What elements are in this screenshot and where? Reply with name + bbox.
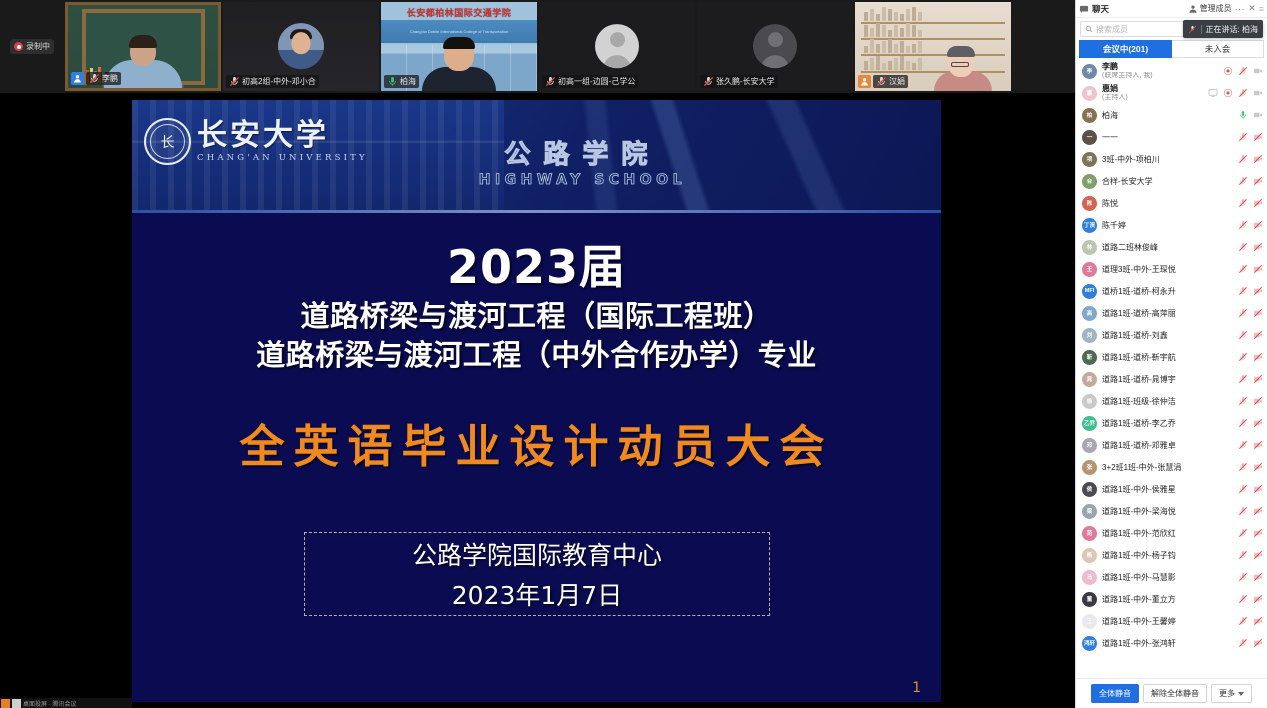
mic-muted-icon[interactable]	[1238, 550, 1248, 560]
camera-off-icon[interactable]	[1253, 154, 1263, 164]
more-button[interactable]: 更多	[1211, 684, 1252, 703]
participant-row[interactable]: 丁渓陈千婷	[1076, 214, 1267, 236]
participant-name-block: 道路1班-中外-梁海悦	[1102, 506, 1233, 517]
participant-name: 道路1班-道桥-邓雅卓	[1102, 440, 1233, 451]
participant-name: 道路1班-道桥-刘鑫	[1102, 330, 1233, 341]
participants-panel: 聊天 管理成员 ··· ✕ ≡ 正在讲话: 柏海	[1075, 0, 1267, 708]
participant-row[interactable]: 鸿轩道路1班-中外-张鸿轩	[1076, 632, 1267, 654]
participant-actions	[1238, 396, 1263, 406]
mic-muted-icon	[703, 76, 714, 87]
participant-name-block: 道路1班-道桥-刘鑫	[1102, 330, 1233, 341]
participant-name-block: 道路1班-中外-董立方	[1102, 594, 1233, 605]
mic-muted-icon[interactable]	[1238, 440, 1248, 450]
participant-name: 道路1班-道桥-高萍丽	[1102, 308, 1233, 319]
camera-off-icon[interactable]	[1253, 330, 1263, 340]
mic-muted-icon[interactable]	[1238, 66, 1248, 76]
participant-row[interactable]: MFI道桥1班-道桥-柯永升	[1076, 280, 1267, 302]
participant-actions	[1238, 506, 1263, 516]
participant-name: 道桥1班-道桥-柯永升	[1102, 286, 1233, 297]
more-label: 更多	[1219, 688, 1235, 699]
participant-name-block: 一一	[1102, 132, 1233, 143]
participant-avatar: 侯	[1082, 482, 1097, 497]
participant-name: 道路二班林俊峰	[1102, 242, 1233, 253]
participant-row[interactable]: 李李鹏(联席主持人, 我)	[1076, 60, 1267, 82]
mic-muted-icon	[545, 76, 556, 87]
manage-members-button[interactable]: 管理成员	[1188, 3, 1232, 14]
avatar-photo	[753, 24, 797, 68]
camera-off-icon[interactable]	[1253, 528, 1263, 538]
camera-off-icon[interactable]	[1253, 484, 1263, 494]
presentation-slide: 长 长安大学 CHANG'AN UNIVERSITY 公路学院 HIGHWAY …	[132, 100, 941, 702]
chat-icon[interactable]	[1079, 4, 1089, 14]
participant-name: 3班-中外-项柏川	[1102, 154, 1233, 165]
participant-avatar: 李	[1082, 64, 1097, 79]
participant-actions	[1238, 550, 1263, 560]
participant-row[interactable]: 陈陈悦	[1076, 192, 1267, 214]
mic-muted-icon[interactable]	[1238, 220, 1248, 230]
camera-off-icon[interactable]	[1253, 396, 1263, 406]
participant-row[interactable]: 合合样-长安大学	[1076, 170, 1267, 192]
participant-actions	[1223, 66, 1263, 76]
participant-actions	[1238, 462, 1263, 472]
camera-icon[interactable]	[1253, 66, 1263, 76]
panel-title: 聊天	[1092, 3, 1109, 15]
participant-avatar: 王	[1082, 614, 1097, 629]
participant-actions	[1238, 418, 1263, 428]
camera-off-icon[interactable]	[1253, 506, 1263, 516]
participant-name: 惠娟	[1102, 84, 1203, 93]
participant-row[interactable]: 林道路二班林俊峰	[1076, 236, 1267, 258]
mic-muted-icon[interactable]	[1238, 484, 1248, 494]
participant-name-block: 道路1班-道桥-李乙乔	[1102, 418, 1233, 429]
participant-avatar: 靳	[1082, 350, 1097, 365]
slide-page-number: 1	[912, 680, 921, 696]
taskbar-label: 桌面投屏 · 腾讯会议	[23, 699, 76, 708]
mic-muted-icon[interactable]	[1238, 264, 1248, 274]
camera-off-icon[interactable]	[1253, 286, 1263, 296]
school-title: 公路学院 HIGHWAY SCHOOL	[479, 134, 686, 188]
participant-name: 道理3班-中外-王琛悦	[1102, 264, 1233, 275]
participant-role: (主持人)	[1102, 94, 1203, 102]
video-tile-5[interactable]: 张久鹏-长安大学	[697, 2, 853, 91]
participant-avatar: 鸿轩	[1082, 636, 1097, 651]
participant-actions	[1238, 242, 1263, 252]
participant-row[interactable]: 高道路1班-道桥-高萍丽	[1076, 302, 1267, 324]
mute-all-button[interactable]: 全体静音	[1091, 684, 1139, 703]
tile-name-label: 李鹏	[102, 73, 118, 84]
search-icon	[1085, 25, 1093, 33]
camera-off-icon[interactable]	[1253, 220, 1263, 230]
slide-info-box: 公路学院国际教育中心 2023年1月7日	[304, 532, 770, 616]
participant-name: 道路1班-道桥-晁博宇	[1102, 374, 1233, 385]
participant-avatar: 乙乔	[1082, 416, 1097, 431]
tile-name-label: 柏海	[400, 76, 416, 87]
participant-name-block: 李鹏(联席主持人, 我)	[1102, 62, 1218, 79]
mic-muted-icon[interactable]	[1238, 594, 1248, 604]
mic-muted-icon	[1188, 25, 1197, 34]
camera-off-icon[interactable]	[1253, 440, 1263, 450]
mic-muted-icon	[229, 76, 240, 87]
host-badge-icon	[71, 72, 84, 85]
university-name-en: CHANG'AN UNIVERSITY	[197, 153, 368, 163]
participant-name-block: 道路1班-中外-马慧影	[1102, 572, 1233, 583]
participant-avatar: 高	[1082, 306, 1097, 321]
mic-muted-icon[interactable]	[1238, 616, 1248, 626]
participant-row[interactable]: 乙乔道路1班-道桥-李乙乔	[1076, 412, 1267, 434]
mic-muted-icon[interactable]	[1238, 330, 1248, 340]
menu-icon[interactable]: ≡	[1259, 4, 1264, 14]
participant-name-block: 道理3班-中外-王琛悦	[1102, 264, 1233, 275]
camera-icon[interactable]	[1253, 88, 1263, 98]
mic-muted-icon[interactable]	[1238, 396, 1248, 406]
participant-actions	[1238, 308, 1263, 318]
video-filmstrip: 录制中 李鹏	[0, 0, 1075, 93]
slide-year: 2023届	[132, 231, 941, 297]
participant-name: 3+2班1班-中外-张慧涓	[1102, 462, 1233, 473]
slide-major-line-1: 道路桥梁与渡河工程（国际工程班）	[132, 297, 941, 336]
more-options-icon[interactable]: ···	[1235, 4, 1246, 14]
participant-row[interactable]: 范道路1班-中外-范欣红	[1076, 522, 1267, 544]
participant-row[interactable]: 王道路1班-中外-王馨婷	[1076, 610, 1267, 632]
camera-icon[interactable]	[1253, 110, 1263, 120]
participant-name-block: 道路二班林俊峰	[1102, 242, 1233, 253]
participant-name-block: 柏海	[1102, 110, 1233, 121]
mic-muted-icon[interactable]	[1238, 176, 1248, 186]
participant-avatar: 合	[1082, 174, 1097, 189]
participant-name-block: 道路1班-中外-侯雅星	[1102, 484, 1233, 495]
participant-name-block: 道路1班-中外-王馨婷	[1102, 616, 1233, 627]
panel-header: 聊天 管理成员 ··· ✕ ≡	[1076, 0, 1267, 18]
participant-avatar: 徐	[1082, 394, 1097, 409]
participant-actions	[1238, 110, 1263, 120]
mic-muted-icon[interactable]	[1238, 352, 1248, 362]
camera-off-icon[interactable]	[1253, 462, 1263, 472]
participant-name: 道路1班-道桥-靳宇航	[1102, 352, 1233, 363]
mic-muted-icon[interactable]	[1238, 374, 1248, 384]
camera-off-icon[interactable]	[1253, 550, 1263, 560]
panel-tabs: 会议中(201) 未入会	[1076, 40, 1267, 60]
mic-muted-icon	[876, 76, 887, 87]
participant-avatar: 梁	[1082, 504, 1097, 519]
university-seal-icon: 长	[144, 118, 191, 165]
camera-off-icon[interactable]	[1253, 418, 1263, 428]
record-icon[interactable]	[1223, 66, 1233, 76]
camera-off-icon[interactable]	[1253, 616, 1263, 626]
participant-row[interactable]: 惠惠娟(主持人)	[1076, 82, 1267, 104]
participant-actions	[1238, 154, 1263, 164]
camera-off-icon[interactable]	[1253, 572, 1263, 582]
participant-name: 道路1班-中外-梁海悦	[1102, 506, 1233, 517]
slide-content: 2023届 道路桥梁与渡河工程（国际工程班） 道路桥梁与渡河工程（中外合作办学）…	[132, 213, 941, 475]
university-logo: 长 长安大学 CHANG'AN UNIVERSITY	[144, 118, 368, 165]
participant-name-block: 道路1班-道桥-晁博宇	[1102, 374, 1233, 385]
participant-row[interactable]: 董道路1班-中外-董立方	[1076, 588, 1267, 610]
tile-name-label: 张久鹏-长安大学	[716, 76, 775, 87]
tile-name-label: 初高一组-边圆-己学公	[558, 76, 635, 87]
participant-name-block: 3+2班1班-中外-张慧涓	[1102, 462, 1233, 473]
mic-muted-icon[interactable]	[1238, 154, 1248, 164]
participant-name: 一一	[1102, 132, 1233, 143]
camera-off-icon[interactable]	[1253, 352, 1263, 362]
participant-name-block: 道桥1班-道桥-柯永升	[1102, 286, 1233, 297]
unmute-all-button[interactable]: 解除全体静音	[1143, 684, 1207, 703]
participant-name-block: 合样-长安大学	[1102, 176, 1233, 187]
video-tile-6[interactable]: 汉娟	[855, 2, 1011, 91]
taskbar-sliver[interactable]: 桌面投屏 · 腾讯会议	[0, 698, 132, 708]
participant-name: 道路1班-中外-王馨婷	[1102, 616, 1233, 627]
participant-actions	[1238, 594, 1263, 604]
record-icon[interactable]	[1223, 88, 1233, 98]
participant-actions	[1238, 132, 1263, 142]
mic-active-icon	[387, 76, 398, 87]
participant-actions	[1238, 198, 1263, 208]
participant-row[interactable]: 柏柏海	[1076, 104, 1267, 126]
camera-off-icon[interactable]	[1253, 176, 1263, 186]
camera-off-icon[interactable]	[1253, 242, 1263, 252]
participant-avatar: 董	[1082, 592, 1097, 607]
meeting-window: 录制中 李鹏	[0, 0, 1267, 708]
close-icon[interactable]: ✕	[1248, 3, 1256, 14]
share-screen-icon[interactable]	[1208, 88, 1218, 98]
participant-actions	[1238, 176, 1263, 186]
participant-row[interactable]: 王道理3班-中外-王琛悦	[1076, 258, 1267, 280]
participant-name-block: 道路1班-道桥-高萍丽	[1102, 308, 1233, 319]
participant-row[interactable]: 晁道路1班-道桥-晁博宇	[1076, 368, 1267, 390]
participant-row[interactable]: 刘道路1班-道桥-刘鑫	[1076, 324, 1267, 346]
video-tile-1[interactable]: 李鹏	[65, 2, 221, 91]
participant-avatar: 马	[1082, 570, 1097, 585]
participant-avatar: 刘	[1082, 328, 1097, 343]
tile-name-label: 初高2组-中外-邓小合	[242, 76, 316, 87]
participant-name-block: 道路1班-中外-张鸿轩	[1102, 638, 1233, 649]
participant-actions	[1238, 286, 1263, 296]
participant-name: 道路1班-中外-杨子钧	[1102, 550, 1233, 561]
mic-muted-icon[interactable]	[1238, 286, 1248, 296]
mic-muted-icon[interactable]	[1238, 198, 1248, 208]
participant-actions	[1238, 440, 1263, 450]
participant-row[interactable]: 邓道路1班-道桥-邓雅卓	[1076, 434, 1267, 456]
participant-row[interactable]: 侯道路1班-中外-侯雅星	[1076, 478, 1267, 500]
participant-name: 道路1班-道桥-李乙乔	[1102, 418, 1233, 429]
participant-actions	[1238, 484, 1263, 494]
record-dot-icon	[14, 42, 23, 51]
participant-name-block: 惠娟(主持人)	[1102, 84, 1203, 101]
participant-avatar: 惠	[1082, 86, 1097, 101]
video-tile-3[interactable]: 长安都柏林国际交通学院 Chang'an Dublin Internationa…	[381, 2, 537, 91]
participant-name-block: 3班-中外-项柏川	[1102, 154, 1233, 165]
mic-muted-icon[interactable]	[1238, 572, 1248, 582]
speaking-toast: 正在讲话: 柏海	[1183, 20, 1263, 38]
school-name-en: HIGHWAY SCHOOL	[479, 172, 686, 188]
participant-row[interactable]: 一一一	[1076, 126, 1267, 148]
app-icon[interactable]	[1, 699, 10, 708]
chevron-down-icon	[1238, 692, 1244, 696]
participant-avatar: 张	[1082, 460, 1097, 475]
shared-screen-stage: 长 长安大学 CHANG'AN UNIVERSITY 公路学院 HIGHWAY …	[0, 93, 1075, 708]
participant-name-block: 陈悦	[1102, 198, 1233, 209]
participant-row[interactable]: 梁道路1班-中外-梁海悦	[1076, 500, 1267, 522]
participant-avatar: 杨	[1082, 548, 1097, 563]
camera-off-icon[interactable]	[1253, 198, 1263, 208]
slide-date: 2023年1月7日	[452, 576, 622, 612]
tile-name-label: 汉娟	[889, 76, 905, 87]
participant-name: 道路1班-班级-徐仲洁	[1102, 396, 1233, 407]
participant-name-block: 道路1班-班级-徐仲洁	[1102, 396, 1233, 407]
mic-muted-icon[interactable]	[1238, 462, 1248, 472]
seal-glyph: 长	[161, 132, 175, 152]
participant-avatar: 一	[1082, 130, 1097, 145]
participant-actions	[1238, 264, 1263, 274]
participant-actions	[1238, 528, 1263, 538]
participant-name: 合样-长安大学	[1102, 176, 1233, 187]
camera-off-icon[interactable]	[1253, 594, 1263, 604]
participant-avatar: MFI	[1082, 284, 1097, 299]
speaking-now-label: 正在讲话: 柏海	[1206, 24, 1258, 35]
tab-not-joined[interactable]: 未入会	[1172, 40, 1264, 58]
panel-footer: 全体静音 解除全体静音 更多	[1076, 678, 1267, 708]
mic-muted-icon[interactable]	[1238, 88, 1248, 98]
camera-off-icon[interactable]	[1253, 308, 1263, 318]
people-icon	[1188, 4, 1198, 14]
mic-muted-icon[interactable]	[1238, 528, 1248, 538]
participant-avatar: 丁渓	[1082, 218, 1097, 233]
video-tile-2[interactable]: 初高2组-中外-邓小合	[223, 2, 379, 91]
window-icon[interactable]	[12, 699, 21, 708]
tab-in-meeting[interactable]: 会议中(201)	[1079, 40, 1172, 58]
participant-avatar: 柏	[1082, 108, 1097, 123]
mic-active-icon[interactable]	[1238, 110, 1248, 120]
slide-major-line-2: 道路桥梁与渡河工程（中外合作办学）专业	[132, 336, 941, 375]
participant-name-block: 道路1班-道桥-邓雅卓	[1102, 440, 1233, 451]
participant-row[interactable]: 张3+2班1班-中外-张慧涓	[1076, 456, 1267, 478]
participant-name: 道路1班-中外-范欣红	[1102, 528, 1233, 539]
participant-row[interactable]: 靳道路1班-道桥-靳宇航	[1076, 346, 1267, 368]
participant-name: 柏海	[1102, 110, 1233, 121]
mic-muted-icon[interactable]	[1238, 506, 1248, 516]
participant-avatar: 王	[1082, 262, 1097, 277]
search-row: 正在讲话: 柏海	[1076, 18, 1267, 40]
mic-muted-icon	[89, 73, 100, 84]
manage-members-label: 管理成员	[1200, 3, 1232, 14]
participant-avatar: 晁	[1082, 372, 1097, 387]
university-name-cn: 长安大学	[197, 120, 368, 152]
participant-name-block: 陈千婷	[1102, 220, 1233, 231]
participant-name: 陈千婷	[1102, 220, 1233, 231]
camera-off-icon[interactable]	[1253, 264, 1263, 274]
participant-list[interactable]: 李李鹏(联席主持人, 我)惠惠娟(主持人)柏柏海一一一项3班-中外-项柏川合合样…	[1076, 60, 1267, 678]
camera-off-icon[interactable]	[1253, 132, 1263, 142]
participant-row[interactable]: 徐道路1班-班级-徐仲洁	[1076, 390, 1267, 412]
participant-name-block: 道路1班-中外-范欣红	[1102, 528, 1233, 539]
slide-organization: 公路学院国际教育中心	[412, 536, 662, 572]
participant-actions	[1238, 330, 1263, 340]
participant-row[interactable]: 项3班-中外-项柏川	[1076, 148, 1267, 170]
participant-avatar: 邓	[1082, 438, 1097, 453]
recording-indicator: 录制中	[0, 0, 64, 93]
participant-actions	[1238, 572, 1263, 582]
participant-role: (联席主持人, 我)	[1102, 72, 1218, 80]
participant-name: 道路1班-中外-董立方	[1102, 594, 1233, 605]
school-name-cn: 公路学院	[479, 134, 686, 171]
mic-muted-icon[interactable]	[1238, 418, 1248, 428]
video-tile-4[interactable]: 初高一组-边圆-己学公	[539, 2, 695, 91]
mic-muted-icon[interactable]	[1238, 242, 1248, 252]
participant-name-block: 道路1班-道桥-靳宇航	[1102, 352, 1233, 363]
mic-muted-icon[interactable]	[1238, 132, 1248, 142]
participant-name-block: 道路1班-中外-杨子钧	[1102, 550, 1233, 561]
participant-name: 李鹏	[1102, 62, 1218, 71]
participant-avatar: 林	[1082, 240, 1097, 255]
host-badge-icon	[858, 75, 871, 88]
slide-headline: 全英语毕业设计动员大会	[132, 410, 941, 475]
participant-actions	[1208, 88, 1263, 98]
slide-banner: 长 长安大学 CHANG'AN UNIVERSITY 公路学院 HIGHWAY …	[132, 100, 941, 213]
mic-muted-icon[interactable]	[1238, 308, 1248, 318]
participant-actions	[1238, 352, 1263, 362]
avatar-placeholder-icon	[595, 24, 639, 68]
participant-actions	[1238, 638, 1263, 648]
participant-actions	[1238, 374, 1263, 384]
participant-avatar: 范	[1082, 526, 1097, 541]
participant-row[interactable]: 杨道路1班-中外-杨子钧	[1076, 544, 1267, 566]
recording-label: 录制中	[26, 41, 50, 52]
participant-name: 道路1班-中外-侯雅星	[1102, 484, 1233, 495]
participant-name: 道路1班-中外-马慧影	[1102, 572, 1233, 583]
participant-actions	[1238, 616, 1263, 626]
participant-actions	[1238, 220, 1263, 230]
mic-muted-icon[interactable]	[1238, 638, 1248, 648]
participant-avatar: 陈	[1082, 196, 1097, 211]
participant-avatar: 项	[1082, 152, 1097, 167]
participant-row[interactable]: 马道路1班-中外-马慧影	[1076, 566, 1267, 588]
participant-name: 陈悦	[1102, 198, 1233, 209]
camera-off-icon[interactable]	[1253, 374, 1263, 384]
participant-name: 道路1班-中外-张鸿轩	[1102, 638, 1233, 649]
camera-off-icon[interactable]	[1253, 638, 1263, 648]
